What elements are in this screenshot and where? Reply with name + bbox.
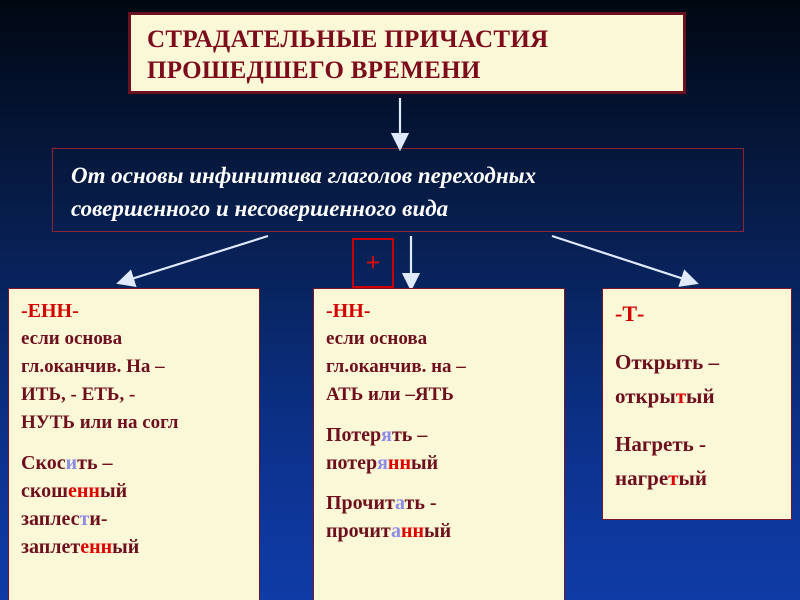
- text-run: ть –: [77, 452, 112, 474]
- text-run: и-: [89, 508, 107, 530]
- text-run: енн: [68, 480, 100, 502]
- example-participle: заплетенный: [21, 533, 249, 561]
- example-infinitive: Нагреть -: [615, 427, 781, 461]
- text-run: скош: [21, 480, 68, 502]
- title-line-2: ПРОШЕДШЕГО ВРЕМЕНИ: [147, 55, 683, 86]
- text-run: откры: [615, 384, 676, 408]
- text-run: енн: [80, 536, 112, 558]
- arrow-subtitle-to-enn: [125, 236, 268, 281]
- spacer: [21, 437, 249, 449]
- example-infinitive: Потерять –: [326, 421, 554, 449]
- text-run: нн: [401, 520, 424, 542]
- rule-line: если основа: [21, 325, 249, 353]
- text-run: потер: [326, 452, 377, 474]
- rule-card-nn: -НН- если основа гл.оканчив. на – АТЬ ил…: [313, 288, 565, 600]
- title-box: СТРАДАТЕЛЬНЫЕ ПРИЧАСТИЯ ПРОШЕДШЕГО ВРЕМЕ…: [128, 12, 686, 94]
- suffix-label-t: -Т-: [615, 297, 781, 331]
- text-run: ть -: [405, 492, 437, 514]
- example-infinitive: Открыть –: [615, 345, 781, 379]
- spacer: [615, 331, 781, 345]
- text-run: т: [676, 384, 686, 408]
- text-run: ый: [424, 520, 451, 542]
- example-participle: нагретый: [615, 461, 781, 495]
- subtitle-line-2: совершенного и несовершенного вида: [71, 192, 743, 225]
- slide-canvas: СТРАДАТЕЛЬНЫЕ ПРИЧАСТИЯ ПРОШЕДШЕГО ВРЕМЕ…: [0, 0, 800, 600]
- rule-card-t: -Т- Открыть – открытый Нагреть - нагреты…: [602, 288, 792, 520]
- spacer: [326, 477, 554, 489]
- text-run: я: [381, 424, 392, 446]
- rule-line: если основа: [326, 325, 554, 353]
- text-run: Открыть –: [615, 350, 719, 374]
- subtitle-line-1: От основы инфинитива глаголов переходных: [71, 159, 743, 192]
- text-run: ый: [411, 452, 438, 474]
- text-run: Потер: [326, 424, 381, 446]
- example-participle: открытый: [615, 379, 781, 413]
- text-run: нагре: [615, 466, 668, 490]
- text-run: Скос: [21, 452, 66, 474]
- rule-line: НУТЬ или на согл: [21, 409, 249, 437]
- example-infinitive: заплести-: [21, 505, 249, 533]
- example-infinitive: Скосить –: [21, 449, 249, 477]
- title-line-1: СТРАДАТЕЛЬНЫЕ ПРИЧАСТИЯ: [147, 24, 683, 55]
- text-run: ый: [100, 480, 127, 502]
- text-run: т: [668, 466, 678, 490]
- text-run: ый: [678, 466, 707, 490]
- suffix-label-enn: -ЕНН-: [21, 297, 249, 325]
- spacer: [615, 413, 781, 427]
- example-infinitive: Прочитать -: [326, 489, 554, 517]
- text-run: т: [80, 508, 90, 530]
- rule-card-enn: -ЕНН- если основа гл.оканчив. На – ИТЬ, …: [8, 288, 260, 600]
- subtitle-box: От основы инфинитива глаголов переходных…: [52, 148, 744, 232]
- example-participle: потерянный: [326, 449, 554, 477]
- suffix-label-nn: -НН-: [326, 297, 554, 325]
- spacer: [326, 409, 554, 421]
- text-run: ть –: [392, 424, 427, 446]
- rule-line: гл.оканчив. На –: [21, 353, 249, 381]
- text-run: а: [395, 492, 404, 514]
- text-run: а: [391, 520, 401, 542]
- example-participle: прочитанный: [326, 517, 554, 545]
- text-run: прочит: [326, 520, 391, 542]
- rule-line: гл.оканчив. на –: [326, 353, 554, 381]
- text-run: я: [377, 452, 388, 474]
- example-participle: скошенный: [21, 477, 249, 505]
- text-run: заплес: [21, 508, 80, 530]
- rule-line: ИТЬ, - ЕТЬ, -: [21, 381, 249, 409]
- text-run: Прочит: [326, 492, 395, 514]
- plus-marker: +: [352, 238, 394, 288]
- text-run: ый: [686, 384, 715, 408]
- text-run: ый: [112, 536, 139, 558]
- text-run: и: [66, 452, 78, 474]
- arrow-subtitle-to-t: [552, 236, 690, 281]
- text-run: заплет: [21, 536, 80, 558]
- text-run: нн: [388, 452, 411, 474]
- text-run: Нагреть -: [615, 432, 706, 456]
- rule-line: АТЬ или –ЯТЬ: [326, 381, 554, 409]
